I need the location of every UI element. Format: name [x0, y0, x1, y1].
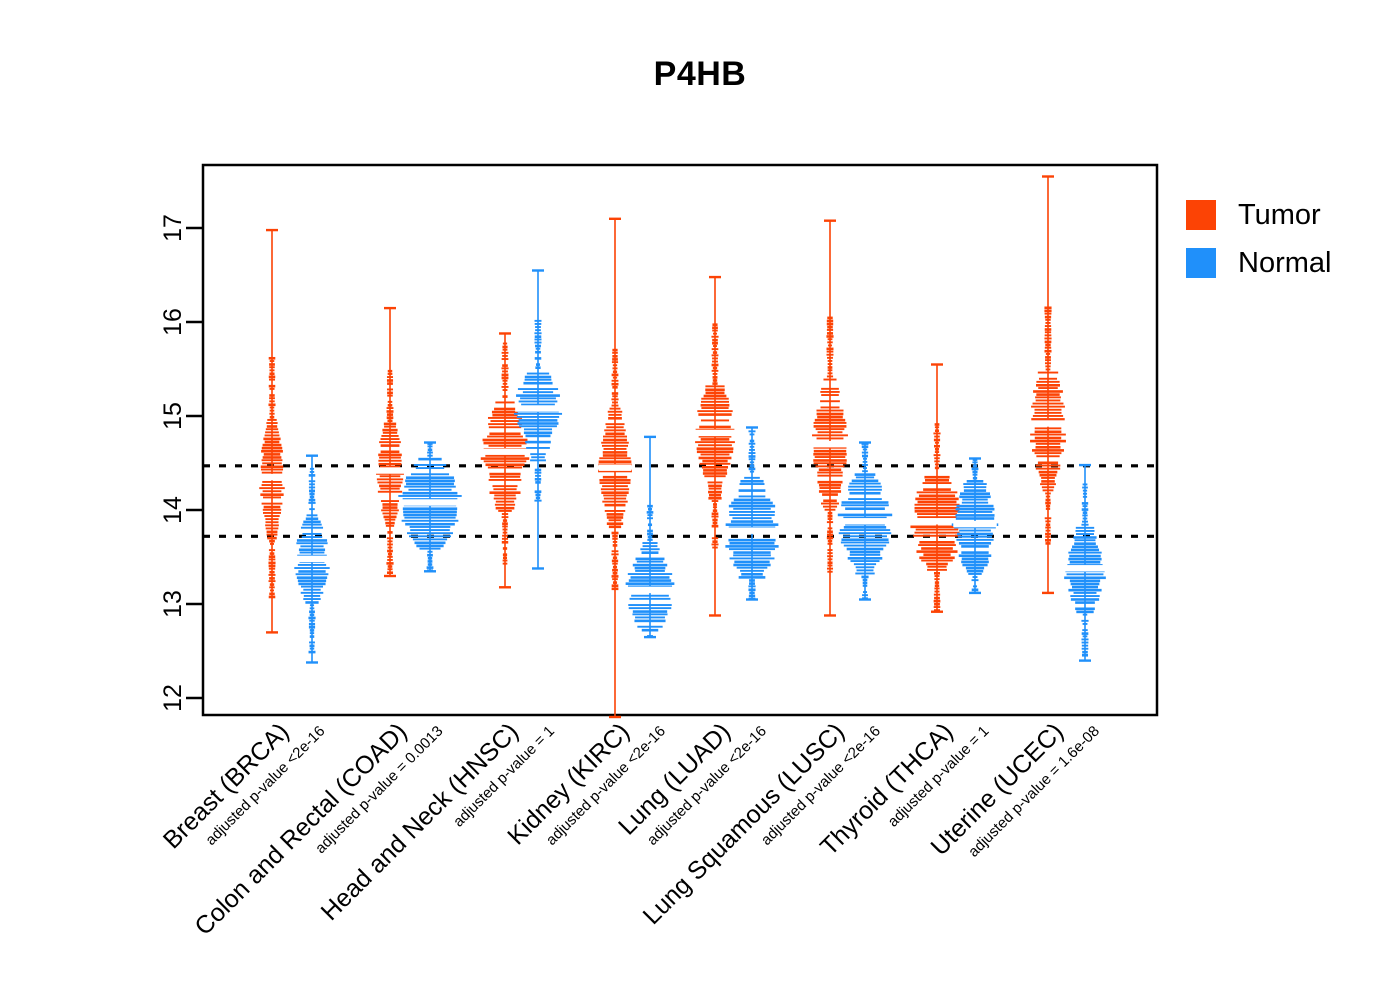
- beeswarm-row: [301, 586, 323, 588]
- beeswarm-row: [821, 388, 839, 390]
- beeswarm-row: [1070, 561, 1101, 564]
- beeswarm-row: [973, 585, 977, 587]
- beeswarm-row: [854, 563, 876, 565]
- beeswarm-row: [1082, 654, 1088, 657]
- beeswarm-row: [863, 582, 868, 585]
- beeswarm-row: [812, 434, 848, 436]
- beeswarm-row: [297, 539, 327, 542]
- beeswarm-row: [1068, 552, 1101, 554]
- beeswarm-row: [604, 448, 627, 450]
- whisker-cap-min: [1079, 659, 1091, 661]
- beeswarm-row: [428, 563, 432, 566]
- beeswarm-tumor-7: [1030, 175, 1067, 594]
- beeswarm-row: [1082, 651, 1088, 654]
- beeswarm-row: [503, 389, 508, 391]
- beeswarm-row: [381, 500, 399, 502]
- median-break: [599, 465, 632, 471]
- beeswarm-row: [712, 330, 717, 332]
- beeswarm-row: [269, 568, 275, 570]
- beeswarm-row: [967, 480, 984, 483]
- beeswarm-row: [488, 467, 522, 469]
- beeswarm-row: [264, 453, 281, 456]
- beeswarm-row: [1046, 505, 1050, 508]
- beeswarm-row: [712, 500, 719, 502]
- beeswarm-row: [740, 570, 764, 572]
- beeswarm-row: [268, 403, 275, 406]
- beeswarm-row: [961, 551, 988, 554]
- beeswarm-row: [427, 445, 432, 447]
- beeswarm-row: [849, 492, 880, 495]
- beeswarm-row: [1032, 449, 1064, 452]
- beeswarm-row: [406, 483, 454, 486]
- beeswarm-row: [823, 379, 836, 381]
- beeswarm-row: [536, 348, 541, 350]
- beeswarm-row: [959, 554, 992, 557]
- beeswarm-row: [603, 451, 627, 454]
- beeswarm-row: [643, 545, 658, 547]
- beeswarm-row: [844, 545, 886, 547]
- beeswarm-row: [916, 550, 957, 553]
- beeswarm-row: [749, 592, 754, 595]
- beeswarm-row: [523, 391, 553, 393]
- beeswarm-row: [608, 411, 623, 413]
- beeswarm-row: [535, 342, 542, 344]
- beeswarm-row: [269, 558, 276, 560]
- beeswarm-row: [850, 560, 879, 562]
- beeswarm-row: [1046, 496, 1050, 498]
- beeswarm-row: [701, 454, 730, 456]
- beeswarm-row: [822, 493, 838, 496]
- beeswarm-row: [610, 408, 621, 410]
- beeswarm-row: [817, 410, 844, 412]
- beeswarm-row: [612, 380, 619, 382]
- beeswarm-row: [527, 373, 549, 375]
- beeswarm-row: [1072, 586, 1098, 589]
- beeswarm-row: [387, 382, 393, 385]
- legend-item-normal[interactable]: Normal: [1186, 248, 1331, 278]
- beeswarm-row: [525, 379, 552, 381]
- beeswarm-row: [382, 513, 397, 515]
- beeswarm-row: [647, 539, 652, 541]
- y-tick-label-14: 14: [159, 496, 187, 524]
- beeswarm-row: [712, 537, 718, 539]
- beeswarm-row: [698, 413, 731, 416]
- beeswarm-row: [526, 435, 551, 438]
- beeswarm-row: [813, 459, 846, 462]
- beeswarm-row: [713, 333, 717, 335]
- whisker-cap-max: [824, 219, 836, 221]
- beeswarm-row: [535, 357, 542, 360]
- beeswarm-row: [733, 508, 771, 510]
- beeswarm-row: [712, 540, 717, 543]
- beeswarm-row: [379, 485, 401, 488]
- beeswarm-row: [310, 468, 314, 470]
- beeswarm-row: [269, 372, 274, 375]
- beeswarm-row: [266, 527, 279, 529]
- beeswarm-row: [503, 529, 508, 531]
- beeswarm-row: [699, 426, 731, 429]
- beeswarm-row: [310, 471, 314, 473]
- beeswarm-row: [1039, 378, 1057, 380]
- beeswarm-row: [913, 535, 961, 537]
- beeswarm-row: [701, 438, 730, 441]
- beeswarm-row: [729, 505, 775, 508]
- beeswarm-row: [490, 476, 520, 478]
- beeswarm-row: [1069, 555, 1100, 558]
- legend-swatch-tumor: [1186, 200, 1216, 230]
- beeswarm-row: [749, 582, 755, 585]
- beeswarm-row: [612, 355, 617, 358]
- beeswarm-row: [263, 444, 282, 447]
- beeswarm-row: [309, 610, 315, 613]
- beeswarm-row: [1064, 576, 1106, 579]
- beeswarm-row: [502, 364, 508, 367]
- beeswarm-row: [821, 406, 840, 408]
- beeswarm-row: [1082, 645, 1088, 647]
- beeswarm-row: [612, 405, 619, 407]
- beeswarm-row: [842, 501, 889, 504]
- beeswarm-normal-2: [514, 269, 562, 569]
- beeswarm-row: [268, 562, 275, 565]
- beeswarm-row: [1035, 437, 1061, 440]
- beeswarm-row: [960, 492, 990, 495]
- beeswarm-row: [934, 594, 940, 596]
- beeswarm-row: [1068, 589, 1101, 592]
- beeswarm-row: [921, 547, 953, 550]
- beeswarm-row: [609, 526, 621, 529]
- beeswarm-row: [613, 557, 617, 560]
- beeswarm-row: [385, 522, 394, 525]
- beeswarm-row: [407, 532, 453, 534]
- beeswarm-row: [827, 568, 833, 570]
- legend-label-tumor: Tumor: [1238, 201, 1321, 230]
- beeswarm-tumor-6: [910, 363, 963, 613]
- beeswarm-row: [502, 377, 509, 380]
- beeswarm-row: [612, 578, 618, 580]
- beeswarm-row: [850, 551, 880, 554]
- beeswarm-row: [734, 499, 770, 502]
- beeswarm-row: [502, 522, 508, 525]
- beeswarm-row: [387, 389, 393, 391]
- beeswarm-row: [613, 377, 617, 379]
- beeswarm-row: [740, 483, 765, 485]
- beeswarm-row: [520, 397, 556, 399]
- beeswarm-row: [1044, 307, 1051, 310]
- beeswarm-row: [629, 607, 672, 609]
- beeswarm-row: [265, 441, 280, 444]
- beeswarm-row: [934, 578, 939, 580]
- beeswarm-row: [935, 581, 939, 584]
- beeswarm-row: [1044, 350, 1051, 353]
- beeswarm-row: [700, 463, 731, 465]
- beeswarm-row: [956, 539, 993, 541]
- beeswarm-row: [612, 361, 618, 363]
- beeswarm-row: [857, 569, 874, 571]
- median-break: [399, 499, 461, 505]
- beeswarm-row: [1036, 381, 1059, 383]
- beeswarm-row: [269, 397, 275, 399]
- beeswarm-row: [1041, 477, 1055, 479]
- beeswarm-row: [267, 419, 276, 421]
- beeswarm-row: [1045, 517, 1052, 519]
- beeswarm-row: [1068, 558, 1101, 561]
- beeswarm-row: [847, 548, 884, 551]
- beeswarm-row: [611, 398, 618, 400]
- beeswarm-row: [301, 527, 323, 529]
- beeswarm-row: [298, 570, 325, 573]
- beeswarm-row: [489, 432, 520, 435]
- beeswarm-row: [305, 601, 318, 604]
- beeswarm-row: [733, 564, 770, 567]
- beeswarm-row: [918, 544, 956, 546]
- y-tick-label-13: 13: [159, 590, 187, 618]
- beeswarm-row: [296, 573, 329, 575]
- beeswarm-row: [631, 576, 670, 579]
- beeswarm-row: [972, 461, 977, 463]
- beeswarm-row: [1036, 393, 1059, 396]
- beeswarm-row: [309, 486, 315, 488]
- beeswarm-row: [814, 425, 847, 428]
- beeswarm-row: [270, 589, 274, 591]
- beeswarm-row: [1070, 595, 1099, 597]
- beeswarm-row: [386, 525, 394, 527]
- beeswarm-row: [302, 524, 321, 526]
- beeswarm-row: [918, 501, 957, 504]
- beeswarm-row: [713, 345, 717, 347]
- beeswarm-row: [602, 501, 627, 503]
- whisker-cap-max: [266, 229, 278, 231]
- beeswarm-row: [601, 491, 628, 494]
- beeswarm-row: [726, 523, 779, 526]
- beeswarm-row: [309, 626, 315, 629]
- beeswarm-row: [503, 519, 507, 522]
- beeswarm-row: [269, 549, 275, 551]
- beeswarm-row: [416, 545, 443, 548]
- beeswarm-row: [827, 329, 833, 331]
- beeswarm-row: [749, 458, 756, 460]
- beeswarm-row: [827, 348, 834, 351]
- beeswarm-row: [309, 499, 316, 502]
- beeswarm-row: [503, 349, 508, 351]
- beeswarm-row: [526, 447, 550, 449]
- beeswarm-row: [1070, 580, 1100, 583]
- beeswarm-row: [535, 351, 541, 354]
- beeswarm-row: [427, 554, 433, 557]
- beeswarm-row: [924, 476, 949, 479]
- beeswarm-row: [603, 454, 627, 457]
- beeswarm-row: [403, 514, 456, 517]
- beeswarm-row: [612, 349, 617, 352]
- beeswarm-row: [602, 485, 628, 487]
- beeswarm-row: [419, 548, 440, 550]
- beeswarm-row: [387, 392, 393, 395]
- beeswarm-row: [704, 395, 727, 398]
- beeswarm-row: [260, 493, 283, 496]
- median-break: [813, 441, 848, 447]
- beeswarm-row: [605, 433, 624, 436]
- beeswarm-row: [817, 472, 843, 474]
- legend-item-tumor[interactable]: Tumor: [1186, 200, 1321, 230]
- beeswarm-row: [1033, 390, 1063, 393]
- whisker-cap-min: [746, 598, 758, 600]
- beeswarm-row: [269, 593, 274, 596]
- beeswarm-row: [861, 576, 868, 579]
- beeswarm-row: [750, 440, 754, 443]
- beeswarm-row: [915, 504, 960, 506]
- beeswarm-row: [863, 579, 868, 582]
- beeswarm-row: [599, 479, 630, 482]
- beeswarm-row: [845, 507, 885, 510]
- beeswarm-row: [701, 419, 729, 421]
- beeswarm-row: [815, 419, 845, 422]
- beeswarm-row: [749, 452, 756, 454]
- beeswarm-row: [310, 496, 314, 499]
- beeswarm-row: [267, 534, 278, 536]
- beeswarm-row: [406, 476, 454, 479]
- beeswarm-row: [827, 552, 832, 554]
- beeswarm-row: [607, 513, 624, 516]
- whisker-cap-max: [644, 436, 656, 438]
- beeswarm-row: [261, 469, 283, 471]
- beeswarm-row: [485, 463, 524, 466]
- beeswarm-row: [856, 476, 874, 478]
- beeswarm-row: [647, 514, 652, 516]
- beeswarm-row: [828, 540, 832, 543]
- beeswarm-row: [814, 450, 846, 453]
- beeswarm-row: [958, 511, 993, 513]
- beeswarm-row: [501, 367, 508, 369]
- beeswarm-row: [729, 514, 774, 516]
- beeswarm-row: [604, 429, 625, 431]
- whisker-cap-max: [746, 426, 758, 428]
- beeswarm-row: [519, 401, 558, 403]
- beeswarm-row: [489, 445, 522, 447]
- beeswarm-row: [1036, 443, 1060, 445]
- beeswarm-row: [959, 496, 990, 499]
- beeswarm-row: [749, 595, 755, 598]
- beeswarm-row: [535, 494, 540, 497]
- beeswarm-row: [418, 458, 441, 461]
- beeswarm-row: [958, 536, 992, 538]
- beeswarm-row: [1045, 359, 1051, 361]
- beeswarm-row: [1045, 347, 1051, 349]
- beeswarm-row: [713, 376, 718, 379]
- median-break: [515, 405, 561, 411]
- beeswarm-row: [270, 407, 275, 409]
- beeswarm-row: [535, 481, 540, 484]
- beeswarm-row: [387, 556, 392, 558]
- beeswarm-row: [919, 495, 955, 498]
- beeswarm-row: [934, 445, 940, 448]
- beeswarm-row: [712, 525, 719, 528]
- beeswarm-row: [739, 489, 766, 492]
- beeswarm-row: [300, 552, 325, 554]
- beeswarm-row: [642, 551, 659, 554]
- beeswarm-row: [1083, 490, 1087, 492]
- beeswarm-row: [384, 423, 396, 426]
- beeswarm-row: [848, 489, 882, 491]
- beeswarm-row: [530, 453, 546, 455]
- beeswarm-row: [386, 562, 393, 565]
- beeswarm-row: [828, 527, 833, 529]
- beeswarm-row: [503, 547, 507, 550]
- beeswarm-row: [605, 504, 626, 507]
- beeswarm-row: [609, 519, 622, 521]
- beeswarm-row: [827, 323, 833, 326]
- beeswarm-row: [935, 442, 939, 444]
- beeswarm-row: [828, 512, 833, 515]
- beeswarm-row: [496, 507, 515, 510]
- beeswarm-row: [713, 509, 717, 512]
- beeswarm-row: [827, 332, 833, 335]
- whisker-cap-min: [532, 567, 544, 569]
- beeswarm-row: [827, 571, 832, 573]
- beeswarm-row: [535, 326, 541, 328]
- beeswarm-row: [380, 475, 401, 477]
- beeswarm-row: [647, 533, 653, 536]
- beeswarm-row: [269, 357, 276, 360]
- beeswarm-row: [925, 479, 949, 482]
- median-break: [259, 474, 285, 480]
- beeswarm-row: [709, 494, 721, 497]
- beeswarm-row: [608, 414, 621, 416]
- beeswarm-row: [828, 344, 832, 346]
- beeswarm-row: [730, 557, 775, 559]
- beeswarm-row: [632, 613, 667, 615]
- beeswarm-row: [827, 549, 832, 551]
- beeswarm-row: [612, 535, 617, 538]
- beeswarm-tumor-4: [695, 276, 735, 617]
- beeswarm-row: [600, 482, 631, 484]
- beeswarm-row: [1042, 486, 1054, 488]
- beeswarm-row: [270, 360, 275, 362]
- beeswarm-row: [827, 555, 833, 557]
- beeswarm-row: [269, 376, 276, 379]
- beeswarm-row: [387, 550, 393, 553]
- beeswarm-row: [269, 379, 275, 381]
- beeswarm-row: [269, 586, 274, 588]
- whisker-cap-max: [969, 457, 981, 459]
- beeswarm-row: [956, 508, 995, 511]
- beeswarm-row: [381, 509, 399, 511]
- median-break: [695, 430, 734, 436]
- beeswarm-row: [428, 557, 432, 560]
- beeswarm-row: [923, 488, 951, 491]
- beeswarm-row: [744, 477, 760, 479]
- beeswarm-row: [428, 560, 433, 563]
- beeswarm-row: [637, 626, 662, 628]
- beeswarm-row: [711, 516, 718, 518]
- beeswarm-row: [915, 510, 960, 513]
- beeswarm-row: [410, 526, 451, 528]
- beeswarm-normal-0: [294, 454, 329, 663]
- whisker-cap-max: [931, 363, 943, 365]
- median-break: [953, 521, 996, 527]
- whisker-cap-min: [969, 592, 981, 594]
- beeswarm-row: [1082, 502, 1088, 505]
- beeswarm-row: [729, 548, 775, 550]
- beeswarm-row: [535, 320, 542, 322]
- beeswarm-row: [265, 431, 279, 433]
- beeswarm-row: [379, 441, 401, 443]
- beeswarm-row: [934, 603, 940, 606]
- beeswarm-row: [713, 506, 717, 508]
- beeswarm-row: [379, 457, 401, 459]
- beeswarm-row: [972, 589, 979, 592]
- beeswarm-row: [535, 478, 541, 481]
- y-tick-label-15: 15: [159, 402, 187, 430]
- beeswarm-row: [612, 532, 619, 535]
